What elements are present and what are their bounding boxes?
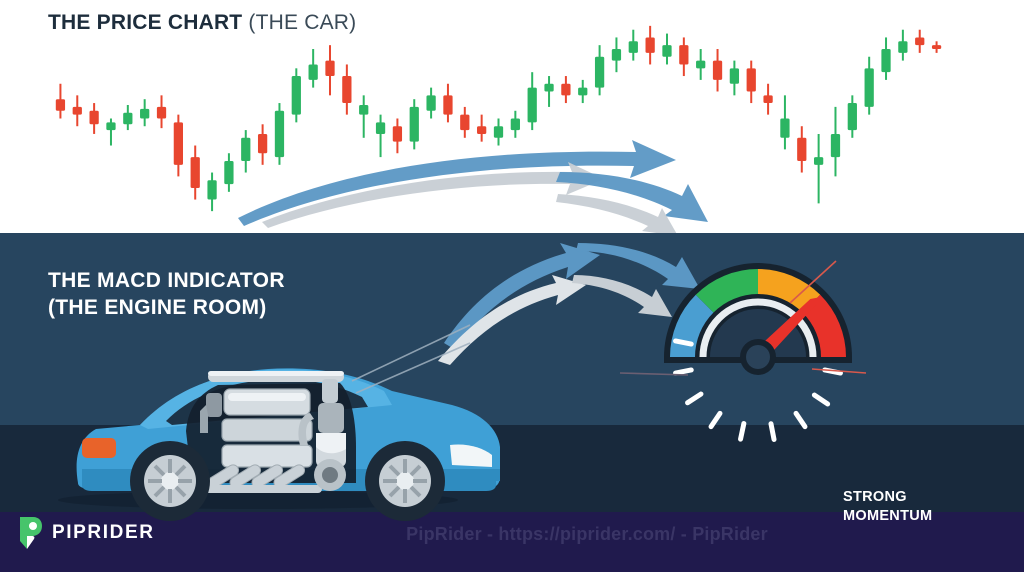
candle-body xyxy=(292,76,301,115)
candle-body xyxy=(342,76,351,103)
candle-body xyxy=(56,99,65,111)
candle-body xyxy=(915,37,924,45)
candle-body xyxy=(646,37,655,52)
candle-body xyxy=(494,126,503,138)
candle-body xyxy=(106,122,115,130)
candle-body xyxy=(713,61,722,80)
candle-body xyxy=(258,134,267,153)
candle-body xyxy=(881,49,890,72)
candle-body xyxy=(528,88,537,123)
candle-body xyxy=(89,111,98,125)
candle-body xyxy=(797,138,806,161)
candle-body xyxy=(123,113,132,125)
candle-body xyxy=(932,45,941,49)
trend-arrows-macd xyxy=(438,243,700,365)
candle-body xyxy=(898,41,907,53)
trend-arrows-top xyxy=(238,140,708,233)
candle-body xyxy=(140,109,149,119)
candle-body xyxy=(393,126,402,141)
candle-body xyxy=(814,157,823,165)
candle-body xyxy=(662,45,671,57)
candle-body xyxy=(679,45,688,64)
candle-body xyxy=(241,138,250,161)
candle-body xyxy=(578,88,587,96)
candle-body xyxy=(73,107,82,115)
candle-body xyxy=(207,180,216,199)
candle-body xyxy=(325,61,334,76)
candle-body xyxy=(191,157,200,188)
candle-body xyxy=(359,105,368,115)
candle-body xyxy=(174,122,183,164)
rear-wheel xyxy=(130,441,210,521)
front-wheel xyxy=(365,441,445,521)
candle-body xyxy=(747,68,756,91)
label-strong-line1: STRONG xyxy=(843,488,932,507)
candle-body xyxy=(224,161,233,184)
candle-body xyxy=(376,122,385,134)
candle-body xyxy=(275,111,284,157)
candle-body xyxy=(629,41,638,53)
infographic-canvas: THE PRICE CHART (THE CAR) THE MACD INDIC… xyxy=(0,0,1024,572)
candle-body xyxy=(763,95,772,103)
watermark-text: PipRider - https://piprider.com/ - PipRi… xyxy=(0,524,1024,545)
candle-body xyxy=(544,84,553,92)
candle-body xyxy=(309,64,318,79)
label-strong-momentum: STRONG MOMENTUM xyxy=(843,488,932,526)
candle-body xyxy=(443,95,452,114)
candle-body xyxy=(865,68,874,107)
candle-body xyxy=(460,115,469,130)
candlestick-chart xyxy=(0,0,1024,233)
candle-body xyxy=(511,119,520,131)
candle-body xyxy=(696,61,705,69)
candle-body xyxy=(848,103,857,130)
candle-body xyxy=(561,84,570,96)
candle-body xyxy=(595,57,604,88)
candle-body xyxy=(730,68,739,83)
candle-body xyxy=(831,134,840,157)
candle-body xyxy=(426,95,435,110)
car-illustration xyxy=(58,325,500,521)
candle-body xyxy=(410,107,419,142)
candle-body xyxy=(477,126,486,134)
price-chart-panel: THE PRICE CHART (THE CAR) xyxy=(0,0,1024,233)
tachometer-gauge xyxy=(664,263,852,439)
candle-body xyxy=(780,119,789,138)
candle-body xyxy=(612,49,621,61)
candle-body xyxy=(157,107,166,119)
